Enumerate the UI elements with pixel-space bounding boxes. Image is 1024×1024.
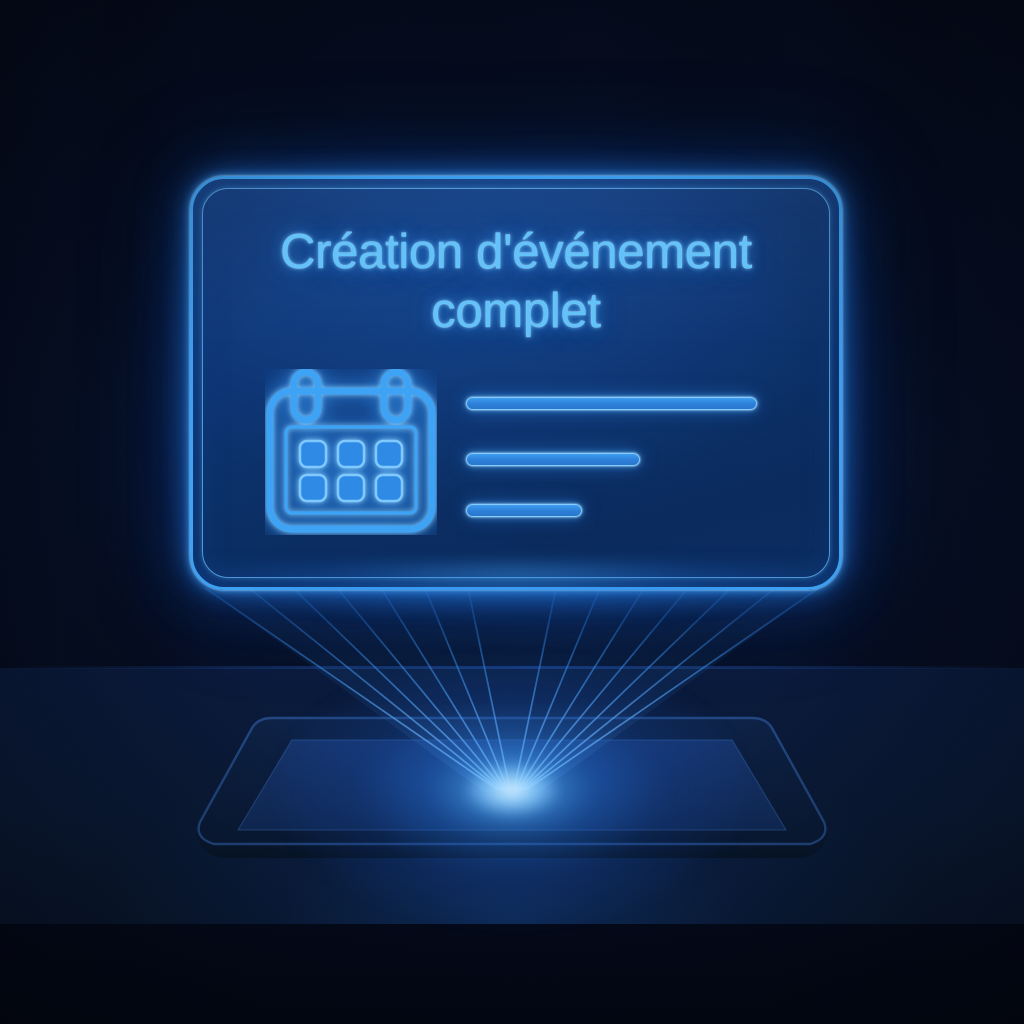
panel-body-row xyxy=(193,369,839,544)
hologram-panel[interactable]: Création d'événement complet xyxy=(190,176,842,590)
line-placeholder-long xyxy=(466,397,757,410)
hologram-scene: Création d'événement complet xyxy=(0,0,1024,1024)
calendar-cell xyxy=(338,475,364,501)
line-placeholder-medium xyxy=(466,453,640,466)
calendar-ring-left xyxy=(294,372,318,420)
placeholder-bars xyxy=(466,397,757,517)
calendar-cell xyxy=(300,441,326,467)
calendar-cell xyxy=(376,475,402,501)
calendar-cell xyxy=(338,441,364,467)
calendar-cell xyxy=(376,441,402,467)
calendar-cell xyxy=(300,475,326,501)
page-title: Création d'événement complet xyxy=(233,223,799,341)
background-bottom-band xyxy=(0,924,1024,1024)
line-placeholder-short xyxy=(466,504,582,517)
calendar-ring-right xyxy=(384,372,408,420)
panel-content: Création d'événement complet xyxy=(193,179,839,587)
calendar-icon xyxy=(265,369,437,540)
